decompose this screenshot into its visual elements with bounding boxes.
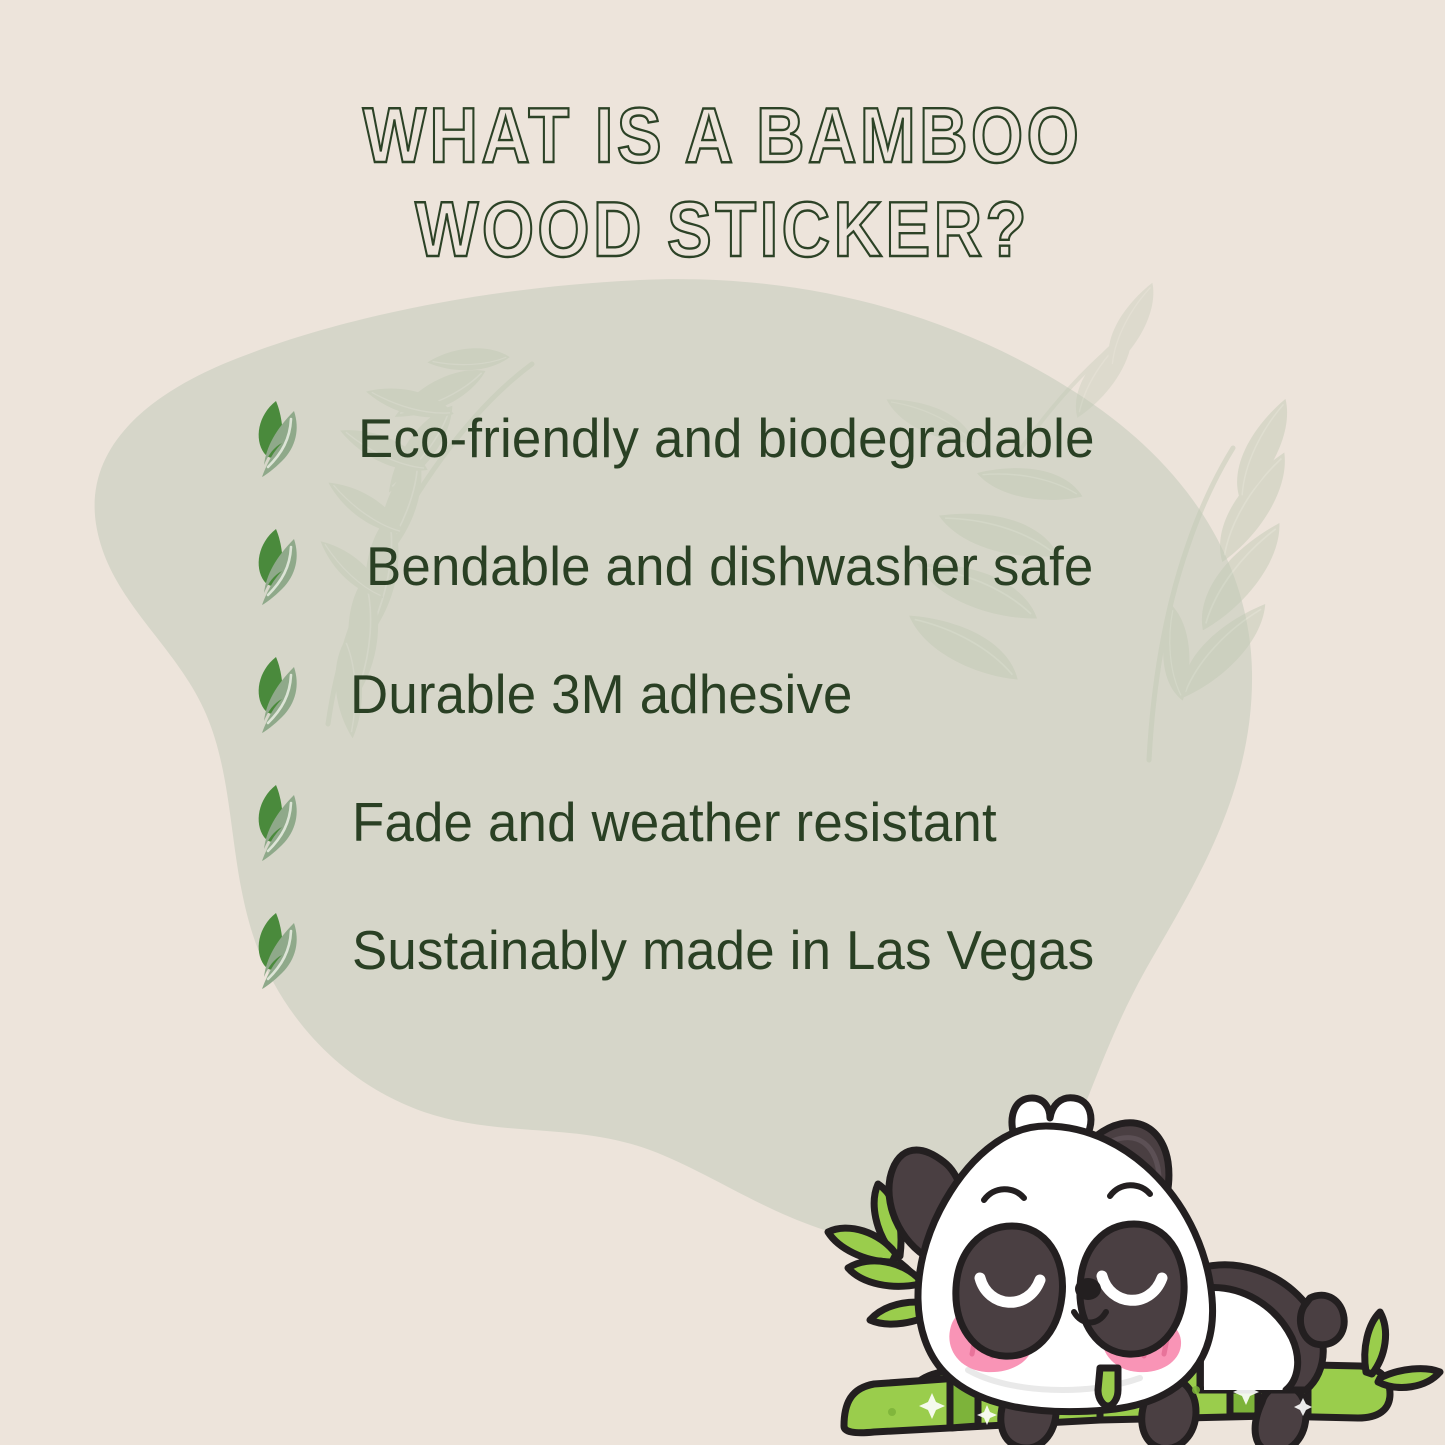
panda-body	[1200, 1265, 1344, 1390]
list-item: Eco-friendly and biodegradable	[248, 374, 1248, 502]
list-item-label: Eco-friendly and biodegradable	[358, 406, 1095, 470]
leaf-icon	[248, 779, 310, 865]
list-item: Bendable and dishwasher safe	[248, 502, 1248, 630]
list-item-label: Durable 3M adhesive	[350, 662, 853, 726]
panda-on-bamboo-illustration	[800, 1072, 1445, 1445]
leaf-icon	[248, 907, 310, 993]
leaf-icon	[248, 395, 310, 481]
list-item-label: Bendable and dishwasher safe	[366, 534, 1093, 598]
poster-canvas: WHAT IS A BAMBOO WOOD STICKER? Eco-frien…	[0, 0, 1445, 1445]
list-item: Durable 3M adhesive	[248, 630, 1248, 758]
feature-list: Eco-friendly and biodegradable Bendable …	[248, 374, 1248, 1014]
leaf-icon	[248, 651, 310, 737]
list-item: Fade and weather resistant	[248, 758, 1248, 886]
list-item-label: Fade and weather resistant	[352, 790, 997, 854]
leaf-icon	[248, 523, 310, 609]
list-item: Sustainably made in Las Vegas	[248, 886, 1248, 1014]
bamboo-front-knuckle	[1098, 1368, 1118, 1406]
list-item-label: Sustainably made in Las Vegas	[352, 918, 1094, 982]
